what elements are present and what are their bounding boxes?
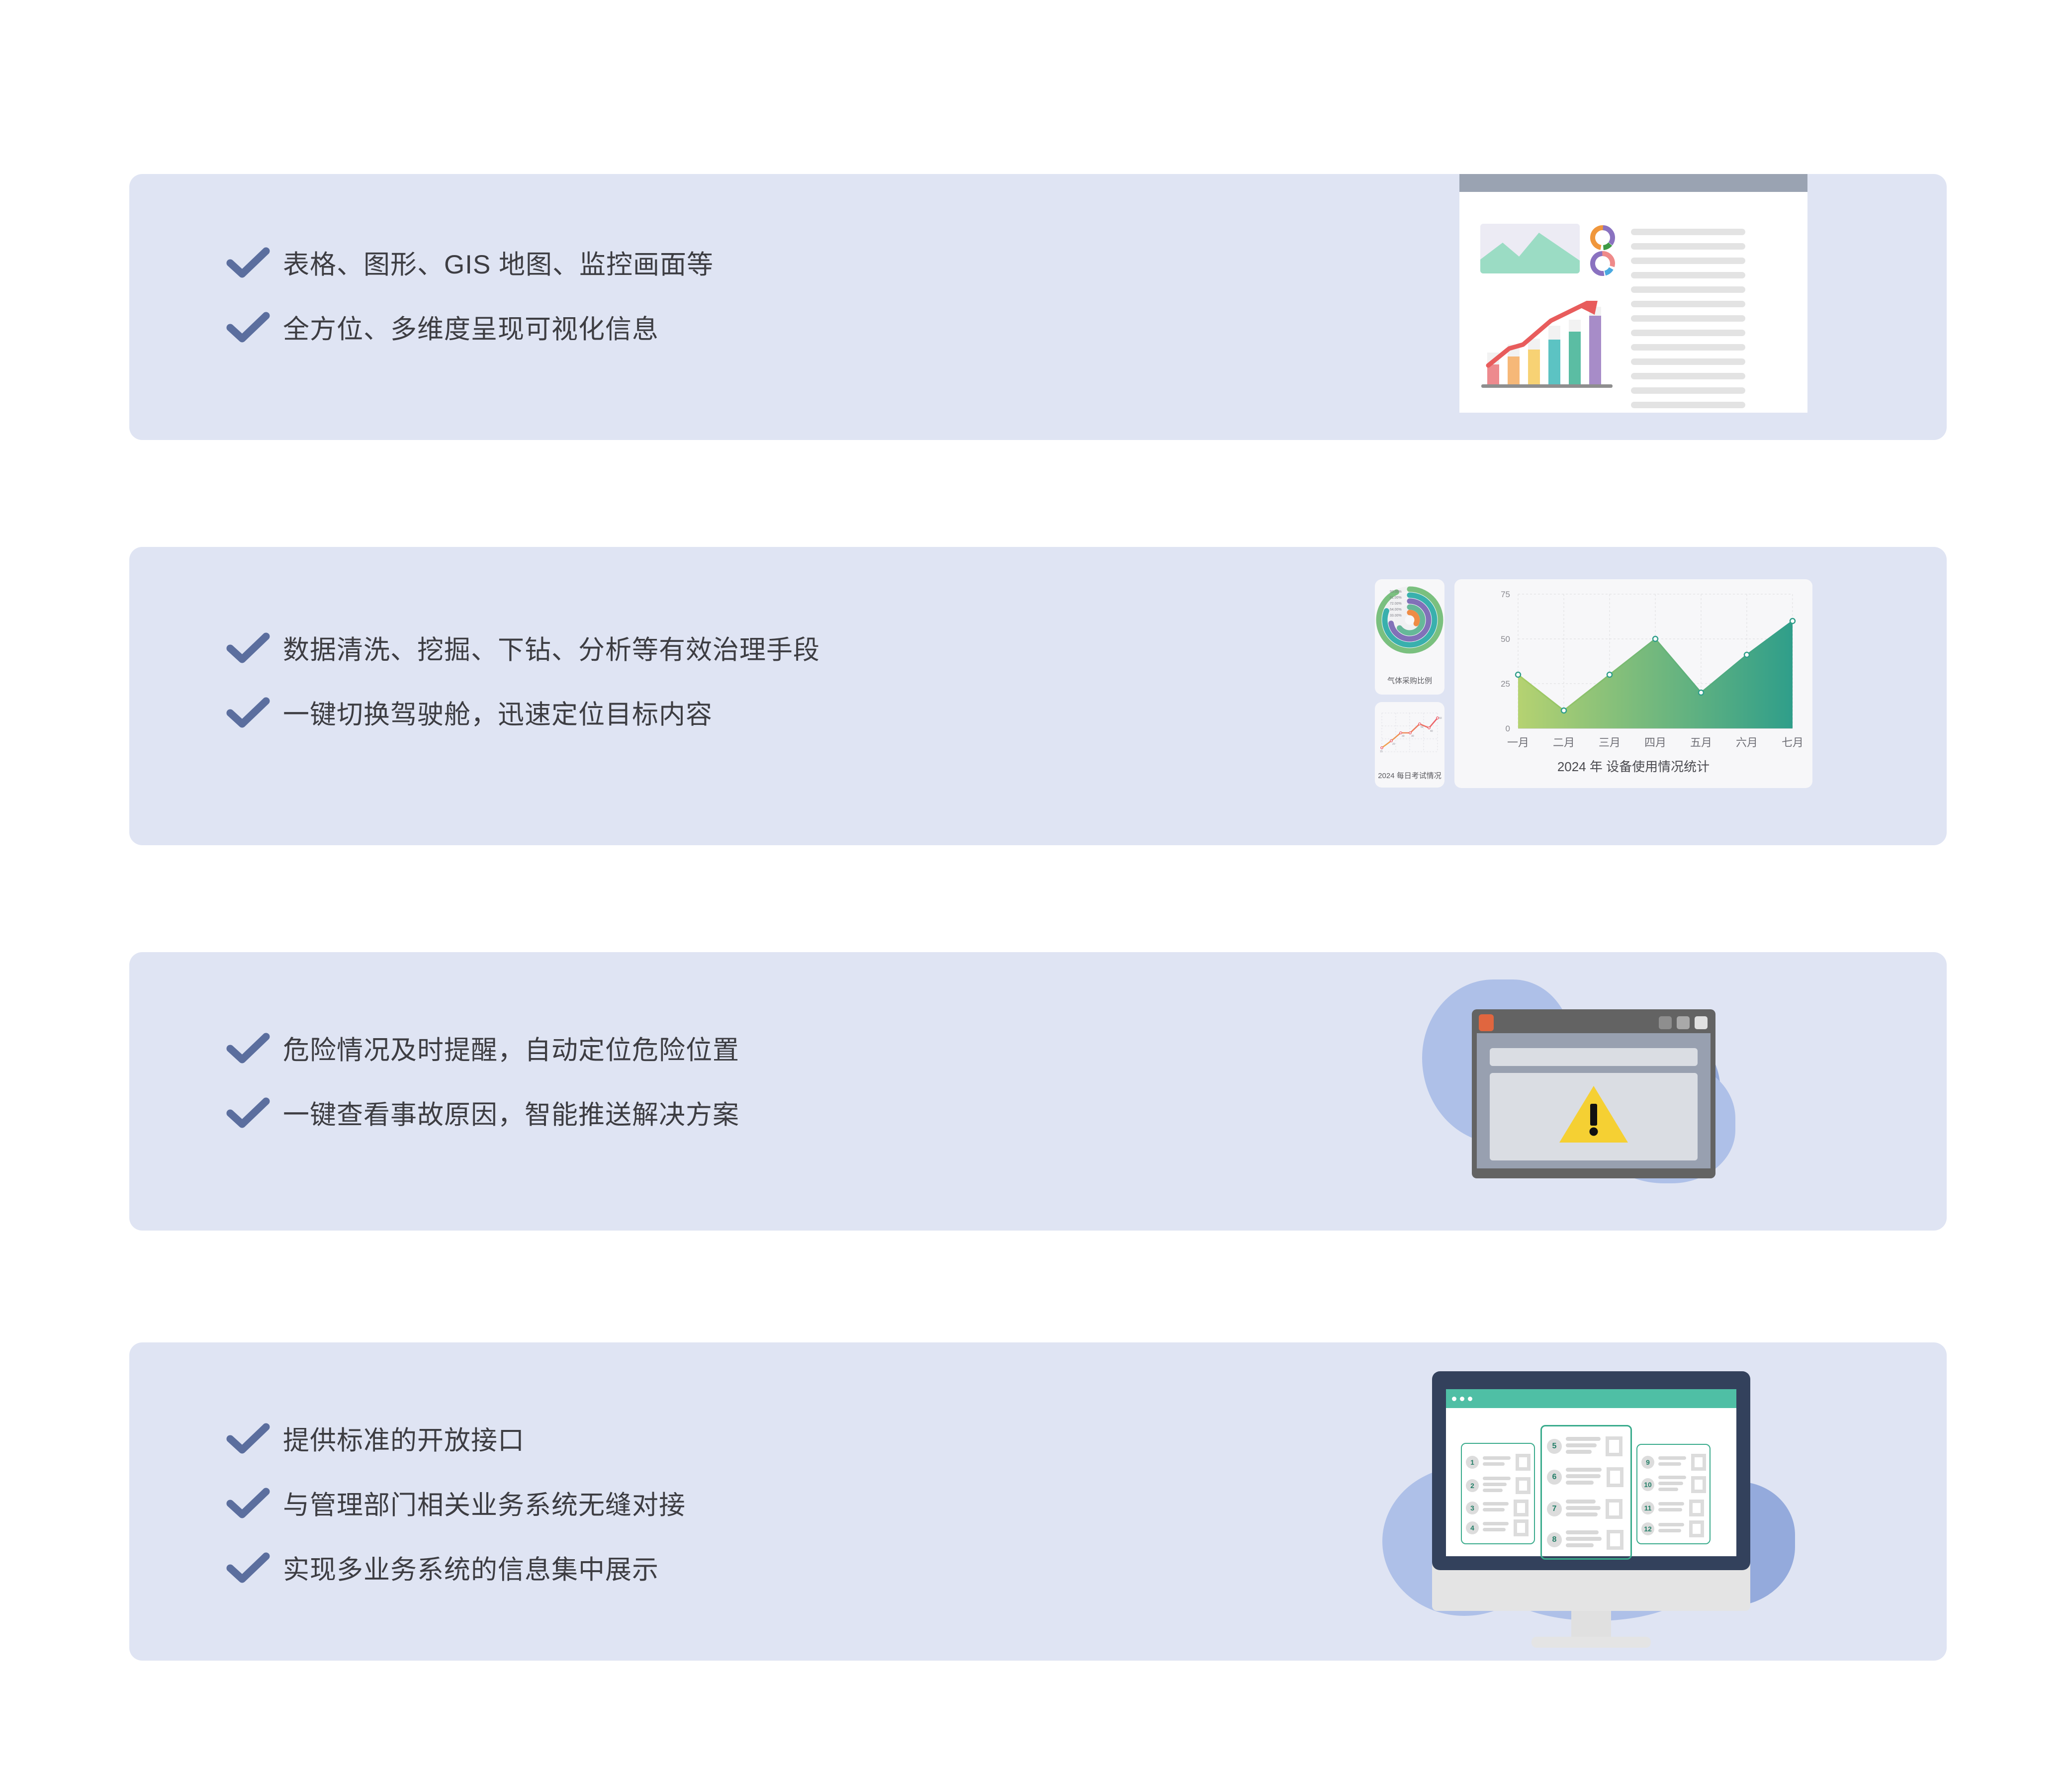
area-chart-shape: [1480, 224, 1580, 273]
text-line: [1631, 301, 1745, 307]
donut-chart-pair-icon: [1585, 224, 1620, 278]
check-icon: [226, 1487, 270, 1519]
document-text-lines: [1631, 229, 1745, 416]
text-line: [1631, 243, 1745, 250]
list-item: 6: [1547, 1467, 1623, 1487]
list-item: 与管理部门相关业务系统无缝对接: [226, 1484, 686, 1522]
line-point-label: 40: [1430, 730, 1433, 733]
window-dot-icon: [1452, 1397, 1456, 1401]
list-item: 12: [1641, 1520, 1704, 1537]
list-item-number: 8: [1547, 1532, 1562, 1547]
bullet-text: 提供标准的开放接口: [283, 1419, 525, 1457]
donut-label: 93.00%: [1390, 590, 1402, 594]
list-item: 表格、图形、GIS 地图、监控画面等: [226, 244, 714, 281]
bar-chart-shape: [1481, 301, 1616, 390]
line-point-label: 15: [1380, 750, 1383, 753]
list-column: 5 6: [1540, 1425, 1632, 1560]
y-tick-label: 0: [1506, 724, 1510, 733]
list-item: 7: [1547, 1499, 1622, 1519]
warning-triangle-icon: [1557, 1084, 1630, 1145]
checkbox-icon[interactable]: [1689, 1500, 1704, 1516]
text-line: [1631, 272, 1745, 278]
card-title-ribbon: 开放 API 多系统轻松对接: [149, 1273, 626, 1346]
x-tick-label: 四月: [1644, 736, 1666, 749]
maximize-icon[interactable]: [1677, 1016, 1690, 1029]
text-line: [1631, 344, 1745, 351]
monitor-stem: [1571, 1611, 1611, 1641]
check-icon: [226, 311, 270, 344]
list-item-number: 11: [1641, 1502, 1654, 1514]
check-icon: [226, 246, 270, 279]
list-item-lines: [1483, 1477, 1511, 1495]
check-icon: [226, 1096, 270, 1129]
area-chart-title: 2024 年 设备使用情况统计: [1454, 757, 1812, 775]
text-line: [1631, 387, 1745, 394]
card-title: 丰富的数据呈现形式: [149, 107, 550, 180]
checkbox-icon[interactable]: [1691, 1476, 1706, 1493]
y-tick-label: 75: [1501, 590, 1510, 599]
feature-bullet-list: 提供标准的开放接口 与管理部门相关业务系统无缝对接 实现多业务系统的信息集中展示: [226, 1419, 686, 1587]
list-item: 9: [1641, 1454, 1706, 1471]
card-title: 开放 API 多系统轻松对接: [149, 1273, 626, 1346]
list-item-number: 9: [1641, 1456, 1654, 1469]
feature-bullet-list: 数据清洗、挖掘、下钻、分析等有效治理手段 一键切换驾驶舱，迅速定位目标内容: [226, 629, 820, 731]
list-item: 实现多业务系统的信息集中展示: [226, 1549, 686, 1587]
monitor-screen: 1 2: [1446, 1389, 1736, 1556]
checkbox-icon[interactable]: [1516, 1477, 1531, 1494]
list-item-lines: [1658, 1476, 1686, 1494]
check-icon: [226, 696, 270, 729]
card-title-ribbon: 数据治理 多维度分析: [149, 490, 560, 563]
donut-label: 72.00%: [1390, 602, 1402, 606]
window-titlebar: [1472, 1009, 1715, 1033]
minimize-icon[interactable]: [1659, 1016, 1672, 1029]
list-item-lines: [1658, 1456, 1686, 1468]
checkbox-icon[interactable]: [1516, 1454, 1531, 1471]
bar-chart-with-trend: [1481, 301, 1616, 390]
list-item: 8: [1547, 1530, 1623, 1550]
checkbox-icon[interactable]: [1607, 1530, 1623, 1550]
restore-icon[interactable]: [1695, 1016, 1708, 1029]
check-icon: [226, 1551, 270, 1584]
feature-bullet-list: 危险情况及时提醒，自动定位危险位置 一键查看事故原因，智能推送解决方案: [226, 1029, 739, 1132]
list-item-lines: [1566, 1500, 1601, 1519]
text-line: [1631, 358, 1745, 365]
list-item-number: 12: [1641, 1522, 1654, 1535]
card-title-ribbon: 智能预警 危险自动捕获: [149, 883, 593, 956]
bullet-text: 数据清洗、挖掘、下钻、分析等有效治理手段: [283, 629, 820, 667]
list-item: 数据清洗、挖掘、下钻、分析等有效治理手段: [226, 629, 820, 667]
bullet-text: 实现多业务系统的信息集中展示: [283, 1549, 659, 1587]
line-point-label: 30: [1402, 735, 1405, 738]
list-item-lines: [1483, 1522, 1509, 1534]
list-item-number: 2: [1466, 1479, 1479, 1492]
card-title: 智能预警 危险自动捕获: [149, 883, 593, 956]
monitor-base: [1531, 1637, 1651, 1648]
line-point-label: 30: [1411, 735, 1414, 738]
list-item-lines: [1566, 1468, 1602, 1487]
x-tick-label: 七月: [1782, 736, 1803, 749]
line-point-label: 50: [1421, 726, 1424, 729]
y-tick-label: 25: [1501, 679, 1510, 689]
checkbox-icon[interactable]: [1607, 1467, 1623, 1487]
dashboard-document-illustration: [1459, 174, 1807, 413]
list-item-number: 1: [1466, 1456, 1479, 1469]
text-line: [1631, 373, 1745, 379]
check-icon: [226, 1422, 270, 1455]
area-chart-thumbnail: [1480, 224, 1580, 273]
list-item-number: 6: [1547, 1470, 1562, 1485]
bullet-text: 一键查看事故原因，智能推送解决方案: [283, 1094, 739, 1132]
window-dot-icon: [1468, 1397, 1472, 1401]
list-item: 提供标准的开放接口: [226, 1419, 686, 1457]
check-icon: [226, 631, 270, 664]
bullet-text: 与管理部门相关业务系统无缝对接: [283, 1484, 686, 1522]
checkbox-icon[interactable]: [1606, 1436, 1622, 1456]
list-item: 2: [1466, 1477, 1531, 1495]
x-tick-label: 五月: [1690, 736, 1712, 749]
list-item: 3: [1466, 1500, 1529, 1516]
alert-window-illustration: [1407, 975, 1785, 1198]
bullet-text: 全方位、多维度呈现可视化信息: [283, 308, 659, 346]
list-item: 4: [1466, 1519, 1529, 1536]
checkbox-icon[interactable]: [1514, 1500, 1529, 1516]
y-tick-label: 50: [1501, 634, 1510, 644]
line-point-label: 60: [1439, 717, 1442, 720]
text-line: [1631, 229, 1745, 235]
document-topbar: [1459, 174, 1807, 192]
list-item: 1: [1466, 1454, 1531, 1471]
list-item-lines: [1658, 1502, 1684, 1514]
bullet-text: 危险情况及时提醒，自动定位危险位置: [283, 1029, 739, 1067]
x-tick-label: 二月: [1553, 736, 1575, 749]
list-item-number: 7: [1547, 1502, 1562, 1516]
text-line: [1631, 315, 1745, 322]
list-item-number: 4: [1466, 1521, 1479, 1534]
list-item-lines: [1483, 1502, 1509, 1514]
monitor-frame: 1 2: [1432, 1371, 1750, 1570]
text-line: [1631, 402, 1745, 408]
alert-window: [1472, 1009, 1715, 1178]
list-item-number: 5: [1547, 1439, 1562, 1454]
gas-purchase-donut-tile: 93.00% 81.00% 72.00% 64.00% 33.00% 气体采购比…: [1375, 579, 1444, 695]
checkbox-icon[interactable]: [1689, 1520, 1704, 1537]
text-line: [1631, 258, 1745, 264]
check-icon: [226, 1032, 270, 1064]
list-column: 9 10: [1636, 1444, 1711, 1544]
checkbox-icon[interactable]: [1691, 1454, 1706, 1471]
list-item: 一键查看事故原因，智能推送解决方案: [226, 1094, 739, 1132]
line-point-label: 20: [1392, 743, 1395, 746]
list-item-lines: [1658, 1523, 1684, 1535]
list-column: 1 2: [1461, 1443, 1535, 1544]
close-icon[interactable]: [1479, 1014, 1494, 1031]
window-dot-icon: [1460, 1397, 1464, 1401]
list-item: 全方位、多维度呈现可视化信息: [226, 308, 714, 346]
donut-label: 33.00%: [1390, 614, 1402, 618]
text-line: [1631, 330, 1745, 336]
radial-bar-chart: 93.00% 81.00% 72.00% 64.00% 33.00%: [1375, 579, 1444, 666]
list-item-number: 3: [1466, 1502, 1479, 1514]
checkbox-icon[interactable]: [1514, 1519, 1529, 1536]
list-item: 10: [1641, 1476, 1706, 1494]
x-tick-label: 一月: [1507, 736, 1529, 749]
list-item-number: 10: [1641, 1478, 1654, 1491]
line-chart: 15 20 30 30 50 40 60: [1375, 702, 1444, 765]
bullet-text: 表格、图形、GIS 地图、监控画面等: [283, 244, 714, 281]
window-address-bar: [1490, 1048, 1698, 1066]
list-item-lines: [1566, 1530, 1602, 1550]
monitor-lists-illustration: 1 2: [1382, 1342, 1795, 1651]
card-title: 数据治理 多维度分析: [149, 490, 560, 563]
checkbox-icon[interactable]: [1606, 1499, 1622, 1519]
list-item-lines: [1566, 1437, 1601, 1456]
list-item-lines: [1483, 1456, 1511, 1468]
donut-chart-caption: 气体采购比例: [1375, 675, 1444, 686]
equipment-usage-area-tile: 75 50 25 0 一月 二月 三月 四月 五月 六月 七月 2024 年 设…: [1454, 579, 1812, 788]
feature-list-page: 丰富的数据呈现形式 数据治理 多维度分析 智能预警 危险自动捕获 开放 API …: [0, 0, 2072, 1772]
text-line: [1631, 286, 1745, 293]
analytics-tiles-illustration: 93.00% 81.00% 72.00% 64.00% 33.00% 气体采购比…: [1365, 572, 1822, 796]
list-item: 危险情况及时提醒，自动定位危险位置: [226, 1029, 739, 1067]
line-chart-caption: 2024 每日考试情况: [1375, 770, 1444, 781]
daily-exam-line-tile: 15 20 30 30 50 40 60 2024 每日考试情况: [1375, 702, 1444, 788]
x-tick-label: 三月: [1599, 736, 1621, 749]
donut-label: 64.00%: [1390, 608, 1402, 612]
donut-label: 81.00%: [1390, 596, 1402, 600]
feature-bullet-list: 表格、图形、GIS 地图、监控画面等 全方位、多维度呈现可视化信息: [226, 244, 714, 346]
app-window-titlebar: [1446, 1389, 1736, 1408]
list-item: 11: [1641, 1500, 1704, 1516]
area-chart: 75 50 25 0 一月 二月 三月 四月 五月 六月 七月: [1454, 579, 1812, 758]
x-tick-label: 六月: [1736, 736, 1758, 749]
list-item: 5: [1547, 1436, 1622, 1456]
list-item: 一键切换驾驶舱，迅速定位目标内容: [226, 694, 820, 731]
card-title-ribbon: 丰富的数据呈现形式: [149, 107, 550, 180]
bullet-text: 一键切换驾驶舱，迅速定位目标内容: [283, 694, 713, 731]
